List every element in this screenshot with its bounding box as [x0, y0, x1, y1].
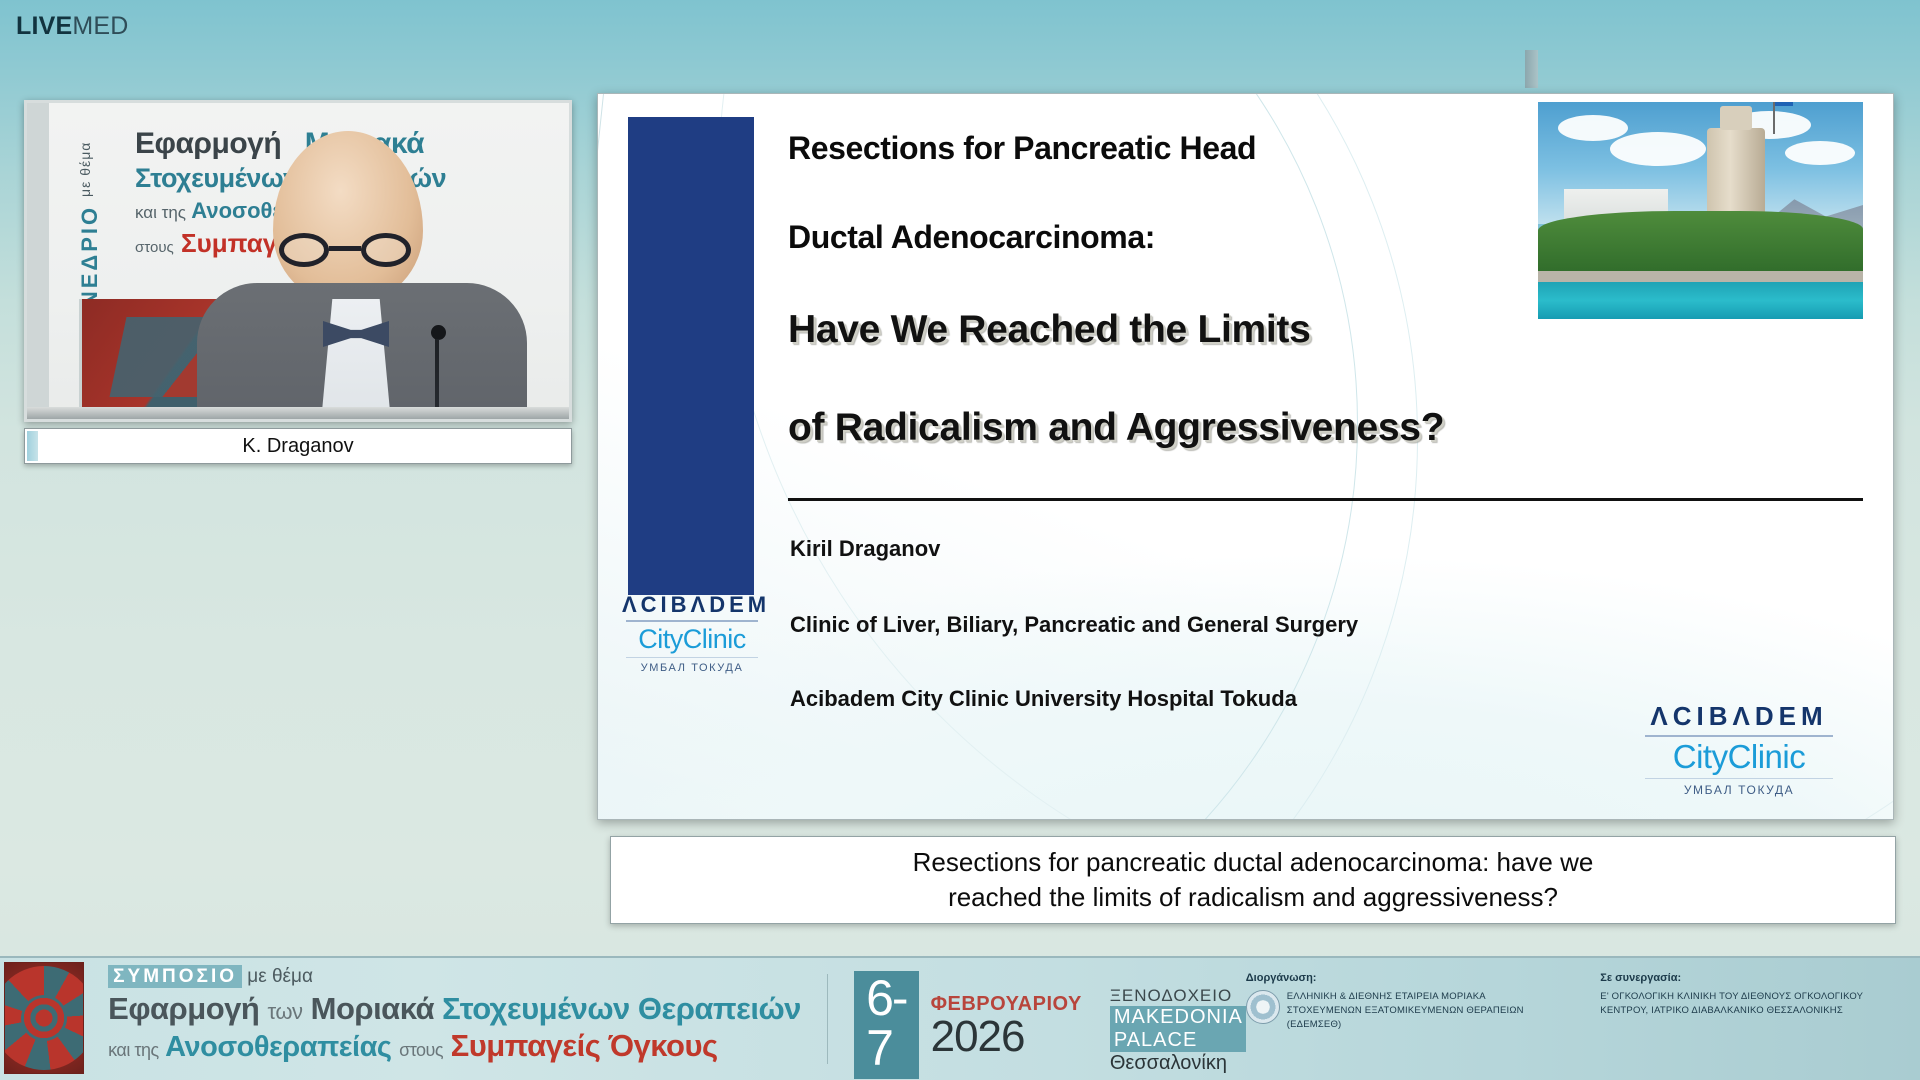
- banner-organizers: Διοργάνωση: ΕΛΛΗΝΙΚΗ & ΔΙΕΘΝΗΣ ΕΤΑΙΡΕΙΑ …: [1246, 958, 1920, 1080]
- collaborator-column: Σε συνεργασία: Ε' ΟΓΚΟΛΟΓΙΚΗ ΚΛΙΝΙΚΗ ΤΟΥ…: [1600, 972, 1898, 1080]
- caption-line-1: Resections for pancreatic ductal adenoca…: [913, 845, 1594, 880]
- slide-title-line-2: Ductal Adenocarcinoma:: [788, 219, 1863, 256]
- poster-side-strip: [27, 103, 49, 419]
- banner-title-c: Μοριακά: [311, 991, 434, 1026]
- banner-title-f: Ανοσοθεραπείας: [165, 1031, 391, 1063]
- banner-title-g: στους: [399, 1040, 443, 1060]
- slide-blue-accent-bar: [628, 117, 754, 592]
- cityclinic-rule: [1645, 778, 1833, 779]
- video-frame: ΣΥΝΕΔΡΙΟ με θέμα Εφαρμογή Μοριακά Στοχευ…: [27, 103, 569, 419]
- slide-affiliation-block: Kiril Draganov Clinic of Liver, Biliary,…: [790, 522, 1863, 712]
- banner-title-a: Εφαρμογή: [108, 991, 259, 1026]
- microphone-icon: [431, 325, 446, 340]
- brand-light: MED: [72, 12, 128, 40]
- acibadem-logo-right: ΛCIBΛDEM CityClinic УМБАЛ ТОКУДА: [1641, 702, 1837, 797]
- organizer-seal-icon: [1246, 990, 1280, 1024]
- event-venue-block: ΞΕΝΟΔΟΧΕΙΟ MAKEDONIA PALACE Θεσσαλονίκη: [1094, 976, 1246, 1075]
- backdrop-line4-small: στους: [135, 239, 174, 256]
- talk-title-caption: Resections for pancreatic ductal adenoca…: [610, 836, 1896, 924]
- event-banner: ΣΥΜΠΟΣΙΟ με θέμα Εφαρμογή των Μοριακά Στ…: [0, 956, 1920, 1080]
- cityclinic-wordmark: CityClinic: [1641, 740, 1837, 775]
- banner-title-row-2: και της Ανοσοθεραπείας στους Συμπαγείς Ό…: [108, 1028, 801, 1064]
- acibadem-rule: [1645, 735, 1833, 737]
- banner-symposium-suffix: με θέμα: [247, 966, 313, 987]
- presentation-slide[interactable]: Resections for Pancreatic Head Ductal Ad…: [597, 93, 1894, 820]
- collaborator-text: Ε' ΟΓΚΟΛΟΓΙΚΗ ΚΛΙΝΙΚΗ ΤΟΥ ΔΙΕΘΝΟΥΣ ΟΓΚΟΛ…: [1600, 990, 1898, 1018]
- video-desk-edge: [27, 407, 569, 419]
- slide-emphasis-line-2: of Radicalism and Aggressiveness?: [788, 406, 1863, 450]
- venue-city: Θεσσαλονίκη: [1110, 1052, 1246, 1075]
- banner-title-row-1: Εφαρμογή των Μοριακά Στοχευμένων Θεραπει…: [108, 991, 801, 1027]
- banner-title-d: Στοχευμένων Θεραπειών: [442, 991, 801, 1026]
- acibadem-wordmark: ΛCIBΛDEM: [1641, 702, 1837, 732]
- collaborator-row: Ε' ΟΓΚΟΛΟΓΙΚΗ ΚΛΙΝΙΚΗ ΤΟΥ ΔΙΕΘΝΟΥΣ ΟΓΚΟΛ…: [1600, 990, 1898, 1018]
- venue-label: ΞΕΝΟΔΟΧΕΙΟ: [1110, 986, 1246, 1006]
- glasses-bridge: [329, 246, 361, 251]
- slide-divider-rule: [788, 498, 1863, 501]
- acibadem-wordmark: ΛCIBΛDEM: [622, 592, 762, 617]
- collaborator-label: Σε συνεργασία:: [1600, 972, 1898, 984]
- caption-line-2: reached the limits of radicalism and agg…: [948, 880, 1558, 915]
- banner-title-b: των: [267, 999, 302, 1024]
- acibadem-rule: [626, 620, 758, 622]
- banner-symposium-row: ΣΥΜΠΟΣΙΟ με θέμα: [108, 966, 801, 988]
- aztec-sun-icon: [4, 966, 84, 1070]
- cityclinic-wordmark: CityClinic: [622, 625, 762, 653]
- speaker-nameplate: K. Draganov: [24, 428, 572, 464]
- organizer-row: ΕΛΛΗΝΙΚΗ & ΔΙΕΘΝΗΣ ΕΤΑΙΡΕΙΑ ΜΟΡΙΑΚΑ ΣΤΟΧ…: [1246, 990, 1561, 1031]
- event-days: 6-7: [854, 971, 918, 1079]
- banner-divider: [827, 974, 828, 1064]
- organizer-column: Διοργάνωση: ΕΛΛΗΝΙΚΗ & ΔΙΕΘΝΗΣ ΕΤΑΙΡΕΙΑ …: [1246, 972, 1561, 1080]
- banner-symposium-badge: ΣΥΜΠΟΣΙΟ: [108, 965, 242, 988]
- speaker-video[interactable]: ΣΥΝΕΔΡΙΟ με θέμα Εφαρμογή Μοριακά Στοχευ…: [24, 100, 572, 422]
- backdrop-line3-small: και της: [135, 203, 186, 222]
- glasses-right-lens: [361, 233, 411, 267]
- slide-title-line-1: Resections for Pancreatic Head: [788, 130, 1863, 167]
- event-year: 2026: [931, 1016, 1082, 1058]
- slide-title-block: Resections for Pancreatic Head Ductal Ad…: [788, 130, 1863, 450]
- slide-emphasis-line-1: Have We Reached the Limits: [788, 308, 1863, 352]
- banner-title-block: ΣΥΜΠΟΣΙΟ με θέμα Εφαρμογή των Μοριακά Στ…: [90, 958, 801, 1080]
- brand-bold: LIVE: [16, 12, 72, 40]
- slide-department: Clinic of Liver, Biliary, Pancreatic and…: [790, 612, 1863, 638]
- tokuda-wordmark: УМБАЛ ТОКУДА: [622, 662, 762, 674]
- slide-author-name: Kiril Draganov: [790, 536, 1863, 562]
- banner-title-h: Συμπαγείς Όγκους: [451, 1028, 718, 1063]
- tokuda-wordmark: УМБАЛ ТОКУДА: [1641, 783, 1837, 797]
- acibadem-logo-left: ΛCIBΛDEM CityClinic УМБАЛ ТОКУДА: [622, 592, 762, 674]
- top-edge-tab: [1525, 50, 1538, 88]
- glasses-left-lens: [279, 233, 329, 267]
- speaker-glasses-icon: [279, 233, 411, 267]
- speaker-name: K. Draganov: [242, 435, 353, 458]
- banner-title-e: και της: [108, 1040, 158, 1060]
- venue-name: MAKEDONIA PALACE: [1110, 1006, 1246, 1052]
- banner-date-block: 6-7 ΦΕΒΡΟΥΑΡΙΟΥ 2026 ΞΕΝΟΔΟΧΕΙΟ MAKEDONI…: [854, 958, 1246, 1080]
- event-month-year: ΦΕΒΡΟΥΑΡΙΟΥ 2026: [931, 993, 1082, 1058]
- livemed-logo: LIVEMED: [16, 14, 129, 39]
- backdrop-line1-a: Εφαρμογή: [135, 127, 281, 160]
- cityclinic-rule: [626, 657, 758, 658]
- backdrop-vertical-small: με θέμα: [77, 141, 93, 196]
- event-emblem-logo: [4, 962, 84, 1074]
- organizer-label: Διοργάνωση:: [1246, 972, 1561, 984]
- organizer-text: ΕΛΛΗΝΙΚΗ & ΔΙΕΘΝΗΣ ΕΤΑΙΡΕΙΑ ΜΟΡΙΑΚΑ ΣΤΟΧ…: [1287, 990, 1561, 1031]
